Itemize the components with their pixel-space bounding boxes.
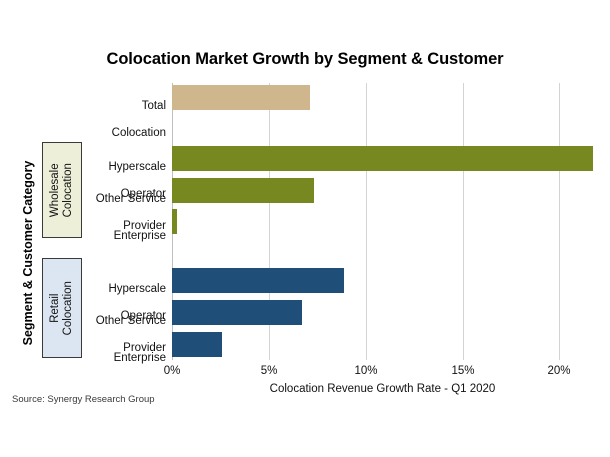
cat-label-total-colocation: Total Colocation bbox=[86, 87, 166, 140]
x-tick-15: 15% bbox=[440, 365, 486, 377]
x-axis-title: Colocation Revenue Growth Rate - Q1 2020 bbox=[172, 383, 593, 395]
cat-label-line1: Other Service bbox=[96, 193, 166, 205]
gridline-20 bbox=[559, 83, 560, 360]
bar-retail-hyperscale[interactable] bbox=[172, 268, 344, 293]
x-tick-10: 10% bbox=[343, 365, 389, 377]
group-label-wholesale-line2: Colocation bbox=[62, 163, 74, 217]
cat-label-line1: Hyperscale bbox=[108, 161, 166, 173]
cat-label-line1: Hyperscale bbox=[108, 283, 166, 295]
y-axis-title: Segment & Customer Category bbox=[21, 143, 35, 363]
cat-label-line1: Enterprise bbox=[114, 230, 166, 242]
bar-wholesale-enterprise[interactable] bbox=[172, 209, 177, 234]
bar-wholesale-hyperscale[interactable] bbox=[172, 146, 593, 171]
group-label-retail-line1: Retail bbox=[49, 293, 61, 322]
group-label-wholesale-line1: Wholesale bbox=[49, 163, 61, 217]
plot-area bbox=[172, 83, 593, 360]
chart-title: Colocation Market Growth by Segment & Cu… bbox=[0, 50, 610, 69]
cat-label-wholesale-enterprise: Enterprise bbox=[86, 217, 166, 243]
x-tick-20: 20% bbox=[536, 365, 582, 377]
bar-retail-other-service[interactable] bbox=[172, 300, 302, 325]
group-box-wholesale: WholesaleColocation bbox=[42, 142, 82, 238]
cat-label-line1: Enterprise bbox=[114, 352, 166, 364]
cat-label-line1: Total bbox=[142, 100, 166, 112]
group-box-retail: RetailColocation bbox=[42, 258, 82, 358]
gridline-15 bbox=[463, 83, 464, 360]
chart-container: Colocation Market Growth by Segment & Cu… bbox=[0, 0, 610, 457]
bar-wholesale-other-service[interactable] bbox=[172, 178, 314, 203]
cat-label-retail-enterprise: Enterprise bbox=[86, 339, 166, 365]
cat-label-line2: Colocation bbox=[112, 127, 166, 139]
gridline-10 bbox=[366, 83, 367, 360]
cat-label-line1: Other Service bbox=[96, 315, 166, 327]
x-tick-5: 5% bbox=[246, 365, 292, 377]
bar-total-colocation[interactable] bbox=[172, 85, 310, 110]
bar-retail-enterprise[interactable] bbox=[172, 332, 222, 357]
group-label-retail-line2: Colocation bbox=[62, 281, 74, 335]
x-tick-0: 0% bbox=[149, 365, 195, 377]
source-note: Source: Synergy Research Group bbox=[12, 394, 155, 405]
